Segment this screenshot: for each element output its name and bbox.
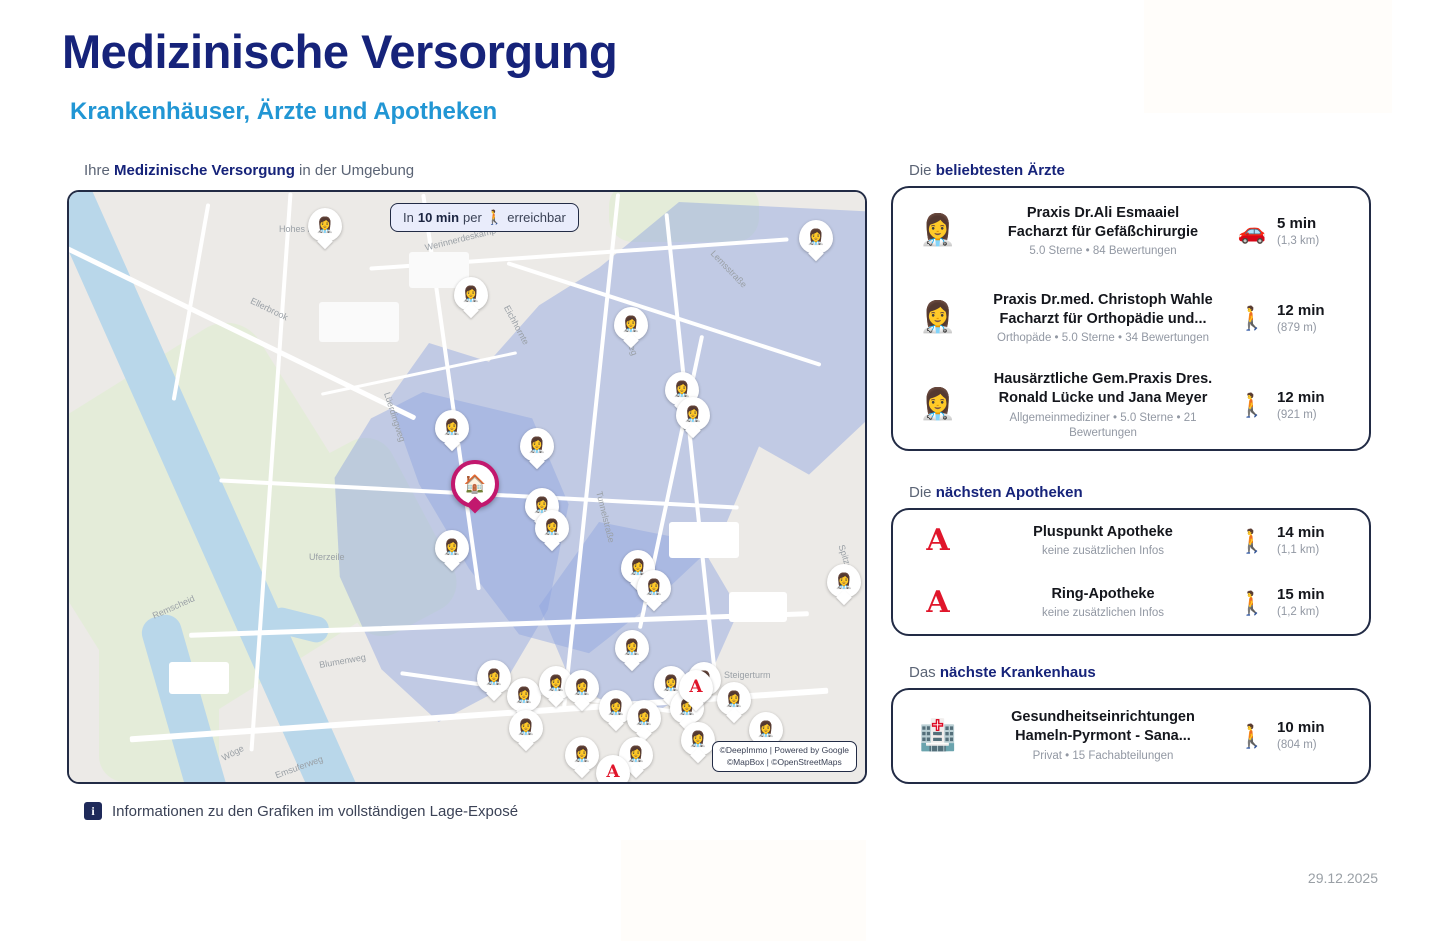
car-icon: 🚗 <box>1237 220 1267 243</box>
home-marker[interactable]: 🏠 <box>451 460 499 508</box>
reachability-pill: In 10 min per 🚶 erreichbar <box>390 203 579 232</box>
page-subtitle: Krankenhäuser, Ärzte und Apotheken <box>70 98 497 126</box>
list-item-travel: 🚶 12 min (921 m) <box>1237 389 1355 422</box>
list-item-title-line2: Hameln-Pyrmont - Sana... <box>975 727 1231 746</box>
map-building <box>169 662 229 694</box>
reach-suffix: erreichbar <box>507 210 566 225</box>
travel-time: 5 min <box>1277 215 1319 234</box>
list-item-title-line1: Hausärztliche Gem.Praxis Dres. <box>975 370 1231 389</box>
list-item-travel: 🚶 15 min (1,2 km) <box>1237 586 1355 619</box>
list-item-travel: 🚶 12 min (879 m) <box>1237 302 1355 335</box>
map-doctor-marker[interactable]: 👩‍⚕️ <box>637 570 671 604</box>
travel-distance: (1,2 km) <box>1277 605 1325 619</box>
pharmacies-caption-bold: nächsten Apotheken <box>936 484 1083 501</box>
hospital-caption-bold: nächste Krankenhaus <box>940 664 1096 681</box>
pharmacy-icon: A <box>907 526 969 556</box>
info-icon: i <box>84 802 102 820</box>
pharmacy-icon: A <box>907 588 969 618</box>
map-doctor-marker[interactable]: 👩‍⚕️ <box>676 397 710 431</box>
list-item-title-line1: Praxis Dr.med. Christoph Wahle <box>975 291 1231 310</box>
doctor-icon: 👩‍⚕️ <box>907 216 969 246</box>
walking-icon: 🚶 <box>486 209 503 226</box>
map-caption-bold: Medizinische Versorgung <box>114 162 295 179</box>
list-item-main: Hausärztliche Gem.Praxis Dres. Ronald Lü… <box>969 370 1237 440</box>
list-item-title: Hausärztliche Gem.Praxis Dres. Ronald Lü… <box>975 370 1231 407</box>
date-stamp: 29.12.2025 <box>1308 870 1378 886</box>
map-doctor-marker[interactable]: 👩‍⚕️ <box>435 530 469 564</box>
reach-prefix: In <box>403 210 414 225</box>
footnote: i Informationen zu den Grafiken im volls… <box>84 802 518 820</box>
list-item-travel: 🚶 10 min (804 m) <box>1237 719 1355 752</box>
map-building <box>319 302 399 342</box>
pharmacies-caption-prefix: Die <box>909 484 936 501</box>
list-item[interactable]: 👩‍⚕️ Hausärztliche Gem.Praxis Dres. Rona… <box>893 362 1369 449</box>
map-attribution-line2: ©MapBox | ©OpenStreetMaps <box>720 757 849 768</box>
list-item-title: Praxis Dr.Ali Esmaaiel Facharzt für Gefä… <box>975 204 1231 241</box>
list-item-title-line2: Facharzt für Orthopädie und... <box>975 310 1231 329</box>
travel-time: 12 min <box>1277 302 1325 321</box>
doctors-caption-bold: beliebtesten Ärzte <box>936 162 1065 179</box>
doctors-caption-prefix: Die <box>909 162 936 179</box>
doctor-icon: 👩‍⚕️ <box>907 303 969 333</box>
list-item-subtitle: keine zusätzlichen Infos <box>975 544 1231 559</box>
list-item-main: Ring-Apotheke keine zusätzlichen Infos <box>969 585 1237 621</box>
list-item-subtitle: 5.0 Sterne • 84 Bewertungen <box>975 244 1231 259</box>
background-tint-top-right <box>1144 0 1392 113</box>
map-doctor-marker[interactable]: 👩‍⚕️ <box>308 208 342 242</box>
list-item-title: Praxis Dr.med. Christoph Wahle Facharzt … <box>975 291 1231 328</box>
travel-time: 10 min <box>1277 719 1325 738</box>
map-attribution-line1: ©DeepImmo | Powered by Google <box>720 745 849 756</box>
pharmacies-card[interactable]: A Pluspunkt Apotheke keine zusätzlichen … <box>891 508 1371 636</box>
reach-middle: per <box>463 210 482 225</box>
map-doctor-marker[interactable]: 👩‍⚕️ <box>799 220 833 254</box>
travel-distance: (879 m) <box>1277 321 1325 335</box>
travel-time: 14 min <box>1277 524 1325 543</box>
travel-distance: (1,3 km) <box>1277 234 1319 248</box>
list-item-title-line1: Gesundheitseinrichtungen <box>975 708 1231 727</box>
map-doctor-marker[interactable]: 👩‍⚕️ <box>681 722 715 756</box>
map-building <box>669 522 739 558</box>
list-item[interactable]: A Ring-Apotheke keine zusätzlichen Infos… <box>893 572 1369 634</box>
map-doctor-marker[interactable]: 👩‍⚕️ <box>535 510 569 544</box>
list-item-title-line2: Facharzt für Gefäßchirurgie <box>975 223 1231 242</box>
map-doctor-marker[interactable]: 👩‍⚕️ <box>827 564 861 598</box>
list-item-travel: 🚶 14 min (1,1 km) <box>1237 524 1355 557</box>
list-item-subtitle: Privat • 15 Fachabteilungen <box>975 749 1231 764</box>
map-canvas[interactable]: Hohes Feld Ellerbrook Werinnerdeskamp Le… <box>69 192 865 782</box>
map-panel[interactable]: Hohes Feld Ellerbrook Werinnerdeskamp Le… <box>67 190 867 784</box>
pharmacies-section-caption: Die nächsten Apotheken <box>909 484 1083 501</box>
map-doctor-marker[interactable]: 👩‍⚕️ <box>454 277 488 311</box>
travel-distance: (921 m) <box>1277 408 1325 422</box>
hospital-caption-prefix: Das <box>909 664 940 681</box>
walking-icon: 🚶 <box>1237 592 1267 615</box>
page-title: Medizinische Versorgung <box>62 28 617 75</box>
list-item-title: Ring-Apotheke <box>975 585 1231 604</box>
list-item-travel: 🚗 5 min (1,3 km) <box>1237 215 1355 248</box>
map-doctor-marker[interactable]: 👩‍⚕️ <box>509 710 543 744</box>
map-caption-prefix: Ihre <box>84 162 114 179</box>
map-doctor-marker[interactable]: 👩‍⚕️ <box>565 670 599 704</box>
map-pharmacy-marker[interactable]: A <box>596 755 630 784</box>
list-item-title: Pluspunkt Apotheke <box>975 523 1231 542</box>
map-pharmacy-marker[interactable]: A <box>679 670 713 704</box>
map-street-label: Steigerturm <box>724 670 771 680</box>
footnote-text: Informationen zu den Grafiken im vollstä… <box>112 803 518 820</box>
map-attribution: ©DeepImmo | Powered by Google ©MapBox | … <box>712 741 857 772</box>
travel-time: 12 min <box>1277 389 1325 408</box>
list-item-main: Gesundheitseinrichtungen Hameln-Pyrmont … <box>969 708 1237 763</box>
map-street-label: Uferzeile <box>309 552 345 562</box>
hospital-icon: 🏥 <box>907 721 969 751</box>
list-item-main: Praxis Dr.med. Christoph Wahle Facharzt … <box>969 291 1237 346</box>
walking-icon: 🚶 <box>1237 394 1267 417</box>
map-doctor-marker[interactable]: 👩‍⚕️ <box>615 630 649 664</box>
hospital-section-caption: Das nächste Krankenhaus <box>909 664 1096 681</box>
map-doctor-marker[interactable]: 👩‍⚕️ <box>627 700 661 734</box>
doctors-card[interactable]: 👩‍⚕️ Praxis Dr.Ali Esmaaiel Facharzt für… <box>891 186 1371 451</box>
list-item[interactable]: 👩‍⚕️ Praxis Dr.med. Christoph Wahle Fach… <box>893 275 1369 362</box>
map-caption-suffix: in der Umgebung <box>295 162 414 179</box>
map-doctor-marker[interactable]: 👩‍⚕️ <box>717 682 751 716</box>
doctors-section-caption: Die beliebtesten Ärzte <box>909 162 1065 179</box>
travel-distance: (1,1 km) <box>1277 543 1325 557</box>
map-doctor-marker[interactable]: 👩‍⚕️ <box>507 678 541 712</box>
list-item-subtitle: keine zusätzlichen Infos <box>975 606 1231 621</box>
map-building <box>729 592 787 622</box>
map-doctor-marker[interactable]: 👩‍⚕️ <box>614 307 648 341</box>
list-item-title: Gesundheitseinrichtungen Hameln-Pyrmont … <box>975 708 1231 745</box>
hospital-card[interactable]: 🏥 Gesundheitseinrichtungen Hameln-Pyrmon… <box>891 688 1371 784</box>
walking-icon: 🚶 <box>1237 725 1267 748</box>
list-item-subtitle: Allgemeinmediziner • 5.0 Sterne • 21 Bew… <box>988 411 1218 441</box>
list-item[interactable]: 👩‍⚕️ Praxis Dr.Ali Esmaaiel Facharzt für… <box>893 188 1369 275</box>
list-item-title-line1: Praxis Dr.Ali Esmaaiel <box>975 204 1231 223</box>
map-doctor-marker[interactable]: 👩‍⚕️ <box>520 428 554 462</box>
list-item[interactable]: 🏥 Gesundheitseinrichtungen Hameln-Pyrmon… <box>893 690 1369 782</box>
background-tint-bottom <box>621 840 866 941</box>
reach-value: 10 min <box>418 210 459 225</box>
map-doctor-marker[interactable]: 👩‍⚕️ <box>565 737 599 771</box>
walking-icon: 🚶 <box>1237 307 1267 330</box>
list-item-title-line2: Ronald Lücke und Jana Meyer <box>975 389 1231 408</box>
list-item-subtitle: Orthopäde • 5.0 Sterne • 34 Bewertungen <box>975 331 1231 346</box>
travel-time: 15 min <box>1277 586 1325 605</box>
map-section-caption: Ihre Medizinische Versorgung in der Umge… <box>84 162 414 179</box>
travel-distance: (804 m) <box>1277 738 1325 752</box>
map-doctor-marker[interactable]: 👩‍⚕️ <box>477 660 511 694</box>
map-doctor-marker[interactable]: 👩‍⚕️ <box>435 410 469 444</box>
doctor-icon: 👩‍⚕️ <box>907 390 969 420</box>
list-item-main: Pluspunkt Apotheke keine zusätzlichen In… <box>969 523 1237 559</box>
list-item-main: Praxis Dr.Ali Esmaaiel Facharzt für Gefä… <box>969 204 1237 259</box>
list-item[interactable]: A Pluspunkt Apotheke keine zusätzlichen … <box>893 510 1369 572</box>
walking-icon: 🚶 <box>1237 530 1267 553</box>
